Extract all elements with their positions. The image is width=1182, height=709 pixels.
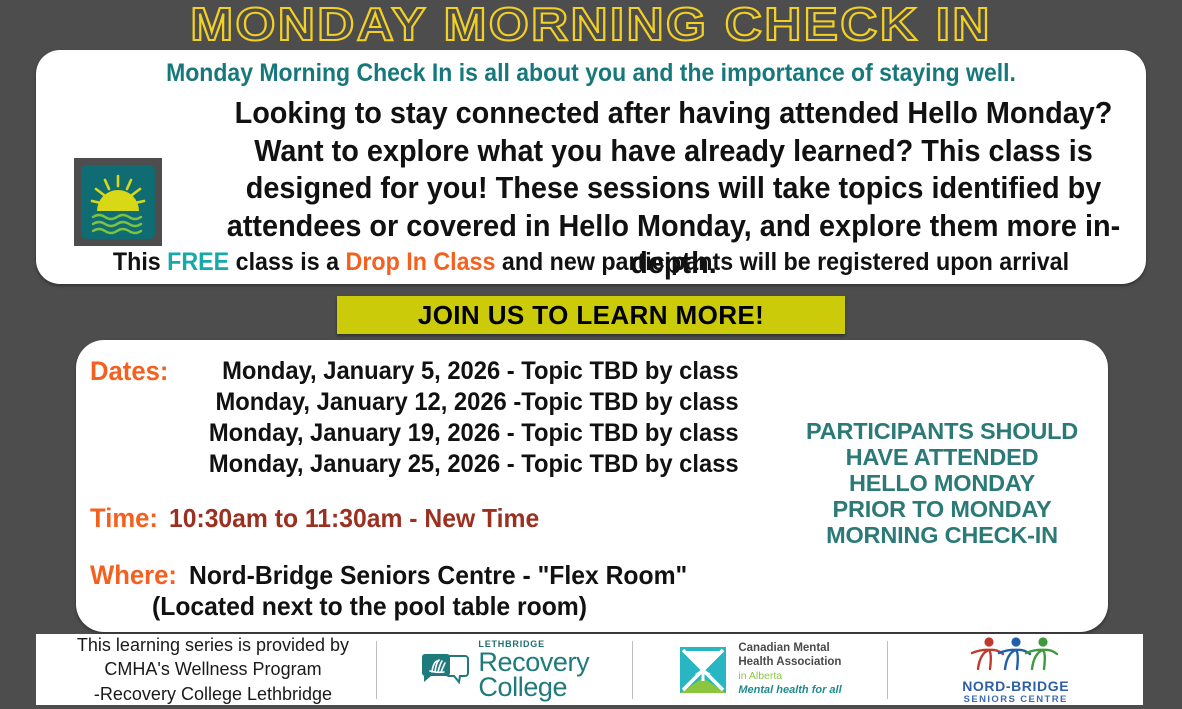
recovery-college-line2: College — [478, 675, 589, 700]
free-class-line: This FREE class is a Drop In Class and n… — [75, 247, 1107, 277]
speech-bubble-icon — [419, 650, 469, 690]
sunrise-icon — [81, 165, 155, 239]
nordbridge-line2: SENIORS CENTRE — [962, 694, 1069, 706]
prerequisite-notice: PARTICIPANTS SHOULD HAVE ATTENDED HELLO … — [782, 418, 1102, 548]
cmha-line2: Health Association — [738, 655, 841, 669]
prerequisite-line: HAVE ATTENDED — [782, 444, 1102, 470]
where-sublocation: (Located next to the pool table room) — [152, 591, 749, 622]
cmha-text: Canadian Mental Health Association in Al… — [738, 641, 841, 698]
date-item: Monday, January 25, 2026 - Topic TBD by … — [208, 449, 738, 480]
cmha-mark-icon — [678, 645, 728, 695]
footer: This learning series is provided by CMHA… — [36, 634, 1143, 705]
cmha-tagline: Mental health for all — [738, 683, 841, 698]
date-item: Monday, January 19, 2026 - Topic TBD by … — [208, 418, 738, 449]
cmha-logo-cell: Canadian Mental Health Association in Al… — [633, 634, 888, 705]
free-line-part2: class is a — [229, 248, 345, 276]
intro-card: Monday Morning Check In is all about you… — [36, 50, 1146, 284]
drop-in-class-label: Drop In Class — [346, 248, 496, 276]
where-value: Nord-Bridge Seniors Centre - "Flex Room" — [189, 560, 687, 591]
dates-row: Dates: Monday, January 5, 2026 - Topic T… — [90, 356, 780, 480]
free-line-part3: and new participants will be registered … — [495, 248, 1069, 276]
cmha-logo: Canadian Mental Health Association in Al… — [678, 641, 841, 698]
cmha-line3: in Alberta — [738, 669, 841, 683]
date-item: Monday, January 5, 2026 - Topic TBD by c… — [208, 356, 738, 387]
free-label: FREE — [167, 248, 229, 276]
dates-label: Dates: — [90, 356, 168, 387]
dates-list: Monday, January 5, 2026 - Topic TBD by c… — [181, 356, 739, 480]
time-label: Time: — [90, 503, 158, 534]
nordbridge-logo-cell: NORD-BRIDGE SENIORS CENTRE — [888, 634, 1143, 705]
free-line-part1: This — [113, 248, 167, 276]
nordbridge-logo: NORD-BRIDGE SENIORS CENTRE — [962, 633, 1069, 706]
details-left-column: Dates: Monday, January 5, 2026 - Topic T… — [90, 356, 780, 622]
details-card: Dates: Monday, January 5, 2026 - Topic T… — [76, 340, 1108, 632]
recovery-college-text: LETHBRIDGE Recovery College — [478, 639, 589, 700]
cmha-line1: Canadian Mental — [738, 641, 841, 655]
prerequisite-line: MORNING CHECK-IN — [782, 522, 1102, 548]
time-value: 10:30am to 11:30am - New Time — [169, 503, 539, 534]
prerequisite-line: PARTICIPANTS SHOULD — [782, 418, 1102, 444]
time-row: Time: 10:30am to 11:30am - New Time — [90, 503, 780, 534]
nordbridge-line1: NORD-BRIDGE — [962, 678, 1069, 694]
prerequisite-line: PRIOR TO MONDAY — [782, 496, 1102, 522]
tagline: Monday Morning Check In is all about you… — [80, 58, 1101, 88]
recovery-college-logo-cell: LETHBRIDGE Recovery College — [377, 634, 632, 705]
three-people-icon — [968, 633, 1064, 671]
join-us-banner[interactable]: JOIN US TO LEARN MORE! — [337, 296, 845, 334]
prerequisite-line: HELLO MONDAY — [782, 470, 1102, 496]
sunrise-logo — [74, 158, 162, 246]
footer-credit-line: -Recovery College Lethbridge — [50, 682, 376, 707]
recovery-college-logo: LETHBRIDGE Recovery College — [419, 639, 589, 700]
date-item: Monday, January 12, 2026 -Topic TBD by c… — [208, 387, 738, 418]
footer-credit-line: CMHA's Wellness Program — [50, 657, 376, 682]
sunrise-svg — [81, 165, 155, 239]
join-us-label: JOIN US TO LEARN MORE! — [418, 302, 764, 328]
footer-credit-line: This learning series is provided by — [50, 633, 376, 658]
page-title: MONDAY MORNING CHECK IN — [0, 0, 1182, 48]
where-row: Where: Nord-Bridge Seniors Centre - "Fle… — [90, 560, 780, 591]
where-label: Where: — [90, 560, 177, 591]
footer-credit: This learning series is provided by CMHA… — [36, 633, 376, 707]
